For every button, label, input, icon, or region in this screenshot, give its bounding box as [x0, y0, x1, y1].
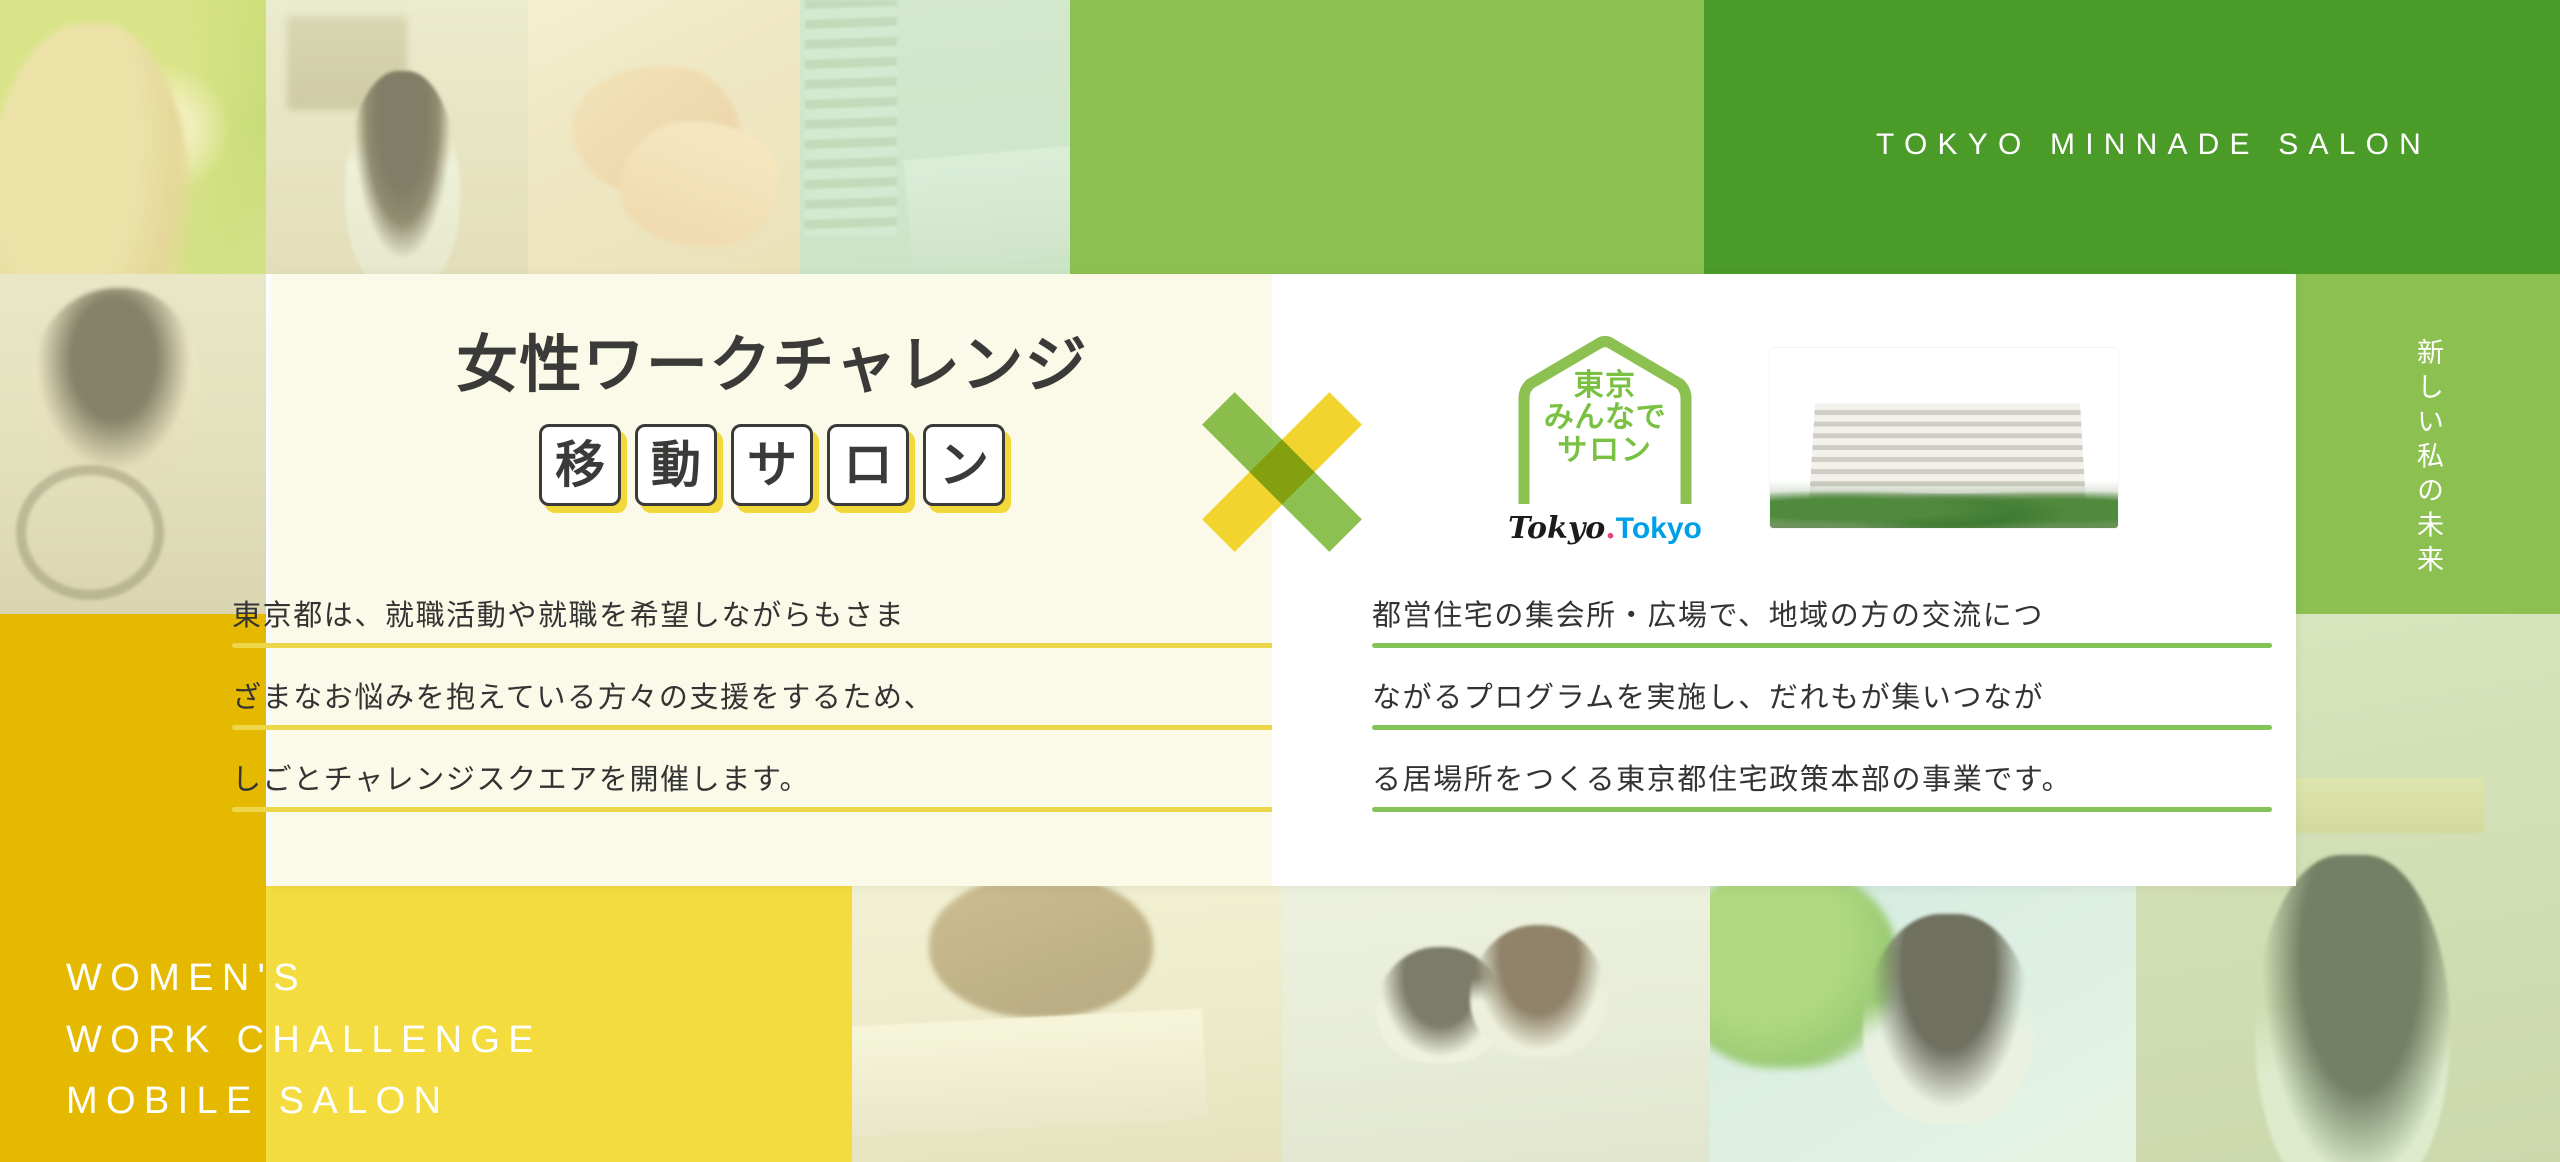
photo-toei-housing-building — [1770, 348, 2118, 528]
card-left-panel: 女性ワークチャレンジ 移 動 サ ロ ン 東京都は、就職活動や就職を希望しながら… — [272, 274, 1272, 886]
boxed-char: 移 — [539, 424, 621, 506]
left-description-line: しごとチャレンジスクエアを開催します。 — [232, 756, 1292, 812]
photo-smiling-woman-kitchen — [266, 0, 528, 274]
left-description-line: 東京都は、就職活動や就職を希望しながらもさま — [232, 592, 1292, 648]
logo-line-1: 東京 — [1500, 370, 1710, 402]
green-block-light — [1070, 0, 1704, 274]
boxed-char: 動 — [635, 424, 717, 506]
wordmark-a: Tokyo — [1508, 511, 1605, 546]
page-title: 女性ワークチャレンジ — [272, 314, 1272, 404]
footer-english-title: WOMEN'S WORK CHALLENGE MOBILE SALON — [66, 948, 542, 1133]
boxed-char: ロ — [827, 424, 909, 506]
right-description-line: ながるプログラムを実施し、だれもが集いつなが — [1372, 674, 2272, 730]
right-description-line: 都営住宅の集会所・広場で、地域の方の交流につ — [1372, 592, 2272, 648]
photo-mother-and-child — [1282, 886, 1710, 1162]
boxed-char: サ — [731, 424, 813, 506]
photo-women-meeting-table — [852, 886, 1282, 1162]
boxed-subtitle: 移 動 サ ロ ン — [272, 424, 1272, 506]
multiply-icon — [1196, 386, 1368, 558]
tokyo-minnade-salon-logo: 東京 みんなで サロン Tokyo.Tokyo — [1500, 336, 1710, 544]
logo-line-3: サロン — [1500, 435, 1710, 467]
left-description-line: ざまなお悩みを抱えている方々の支援をするため、 — [232, 674, 1292, 730]
photo-woman-writing-desk — [800, 0, 1070, 274]
logo-line-2: みんなで — [1500, 402, 1710, 434]
wordmark-dot: . — [1605, 511, 1615, 546]
tokyo-tokyo-wordmark: Tokyo.Tokyo — [1500, 511, 1710, 546]
right-description: 都営住宅の集会所・広場で、地域の方の交流につ ながるプログラムを実施し、だれもが… — [1372, 592, 2272, 812]
brand-label: TOKYO MINNADE SALON — [1876, 128, 2431, 162]
logo-japanese-text: 東京 みんなで サロン — [1500, 370, 1710, 467]
photo-holding-hands — [528, 0, 800, 274]
vertical-tagline: 新しい私の未来 — [2408, 338, 2447, 580]
promo-banner: TOKYO MINNADE SALON 新しい私の未来 WOMEN'S WORK… — [0, 0, 2560, 1162]
wordmark-b: Tokyo — [1616, 512, 1702, 545]
left-description: 東京都は、就職活動や就職を希望しながらもさま ざまなお悩みを抱えている方々の支援… — [232, 592, 1292, 812]
boxed-char: ン — [923, 424, 1005, 506]
photo-woman-on-bicycle — [0, 274, 266, 614]
right-description-line: る居場所をつくる東京都住宅政策本部の事業です。 — [1372, 756, 2272, 812]
photo-smiling-young-woman — [1710, 886, 2136, 1162]
